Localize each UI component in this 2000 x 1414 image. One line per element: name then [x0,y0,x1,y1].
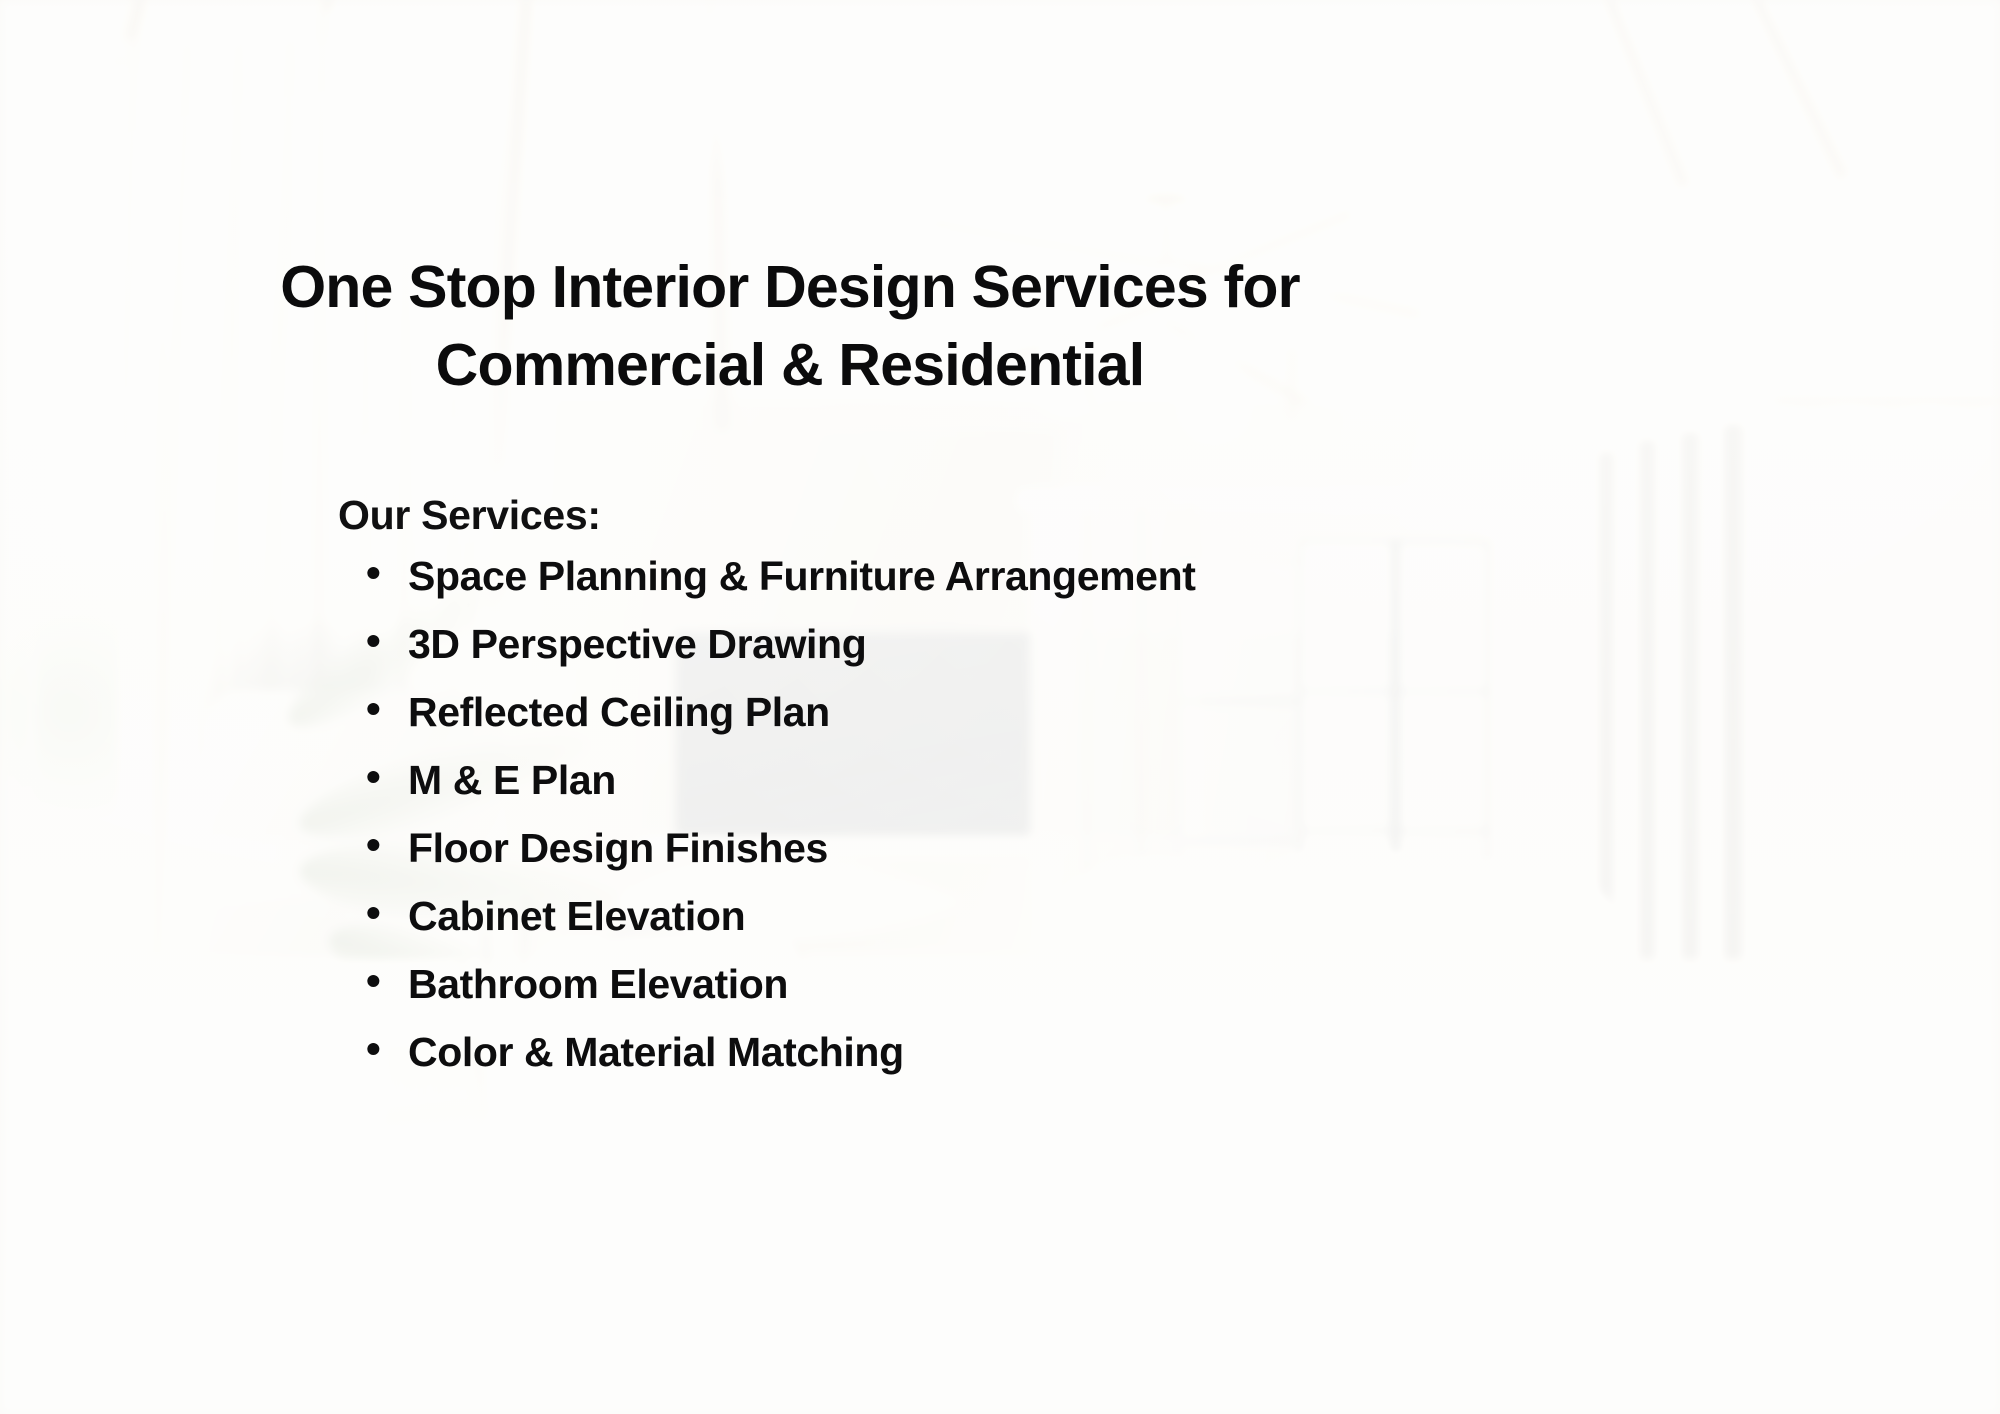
service-list-item: 3D Perspective Drawing [330,621,1580,668]
service-list-item: Color & Material Matching [330,1029,1580,1076]
service-list-item: Bathroom Elevation [330,961,1580,1008]
service-list-item: Reflected Ceiling Plan [330,689,1580,736]
services-list: Space Planning & Furniture Arrangement 3… [330,553,1580,1076]
service-list-item: Cabinet Elevation [330,893,1580,940]
service-list-item: Floor Design Finishes [330,825,1580,872]
services-section: Our Services: Space Planning & Furniture… [330,492,1580,1097]
service-list-item: Space Planning & Furniture Arrangement [330,553,1580,600]
page-title-line-1: One Stop Interior Design Services for [280,254,1300,320]
page-title: One Stop Interior Design Services for Co… [200,248,1380,405]
page-title-line-2: Commercial & Residential [436,332,1145,398]
service-list-item: M & E Plan [330,757,1580,804]
text-overlay: One Stop Interior Design Services for Co… [0,0,2000,1414]
services-heading: Our Services: [338,492,1580,539]
poster-canvas: One Stop Interior Design Services for Co… [0,0,2000,1414]
